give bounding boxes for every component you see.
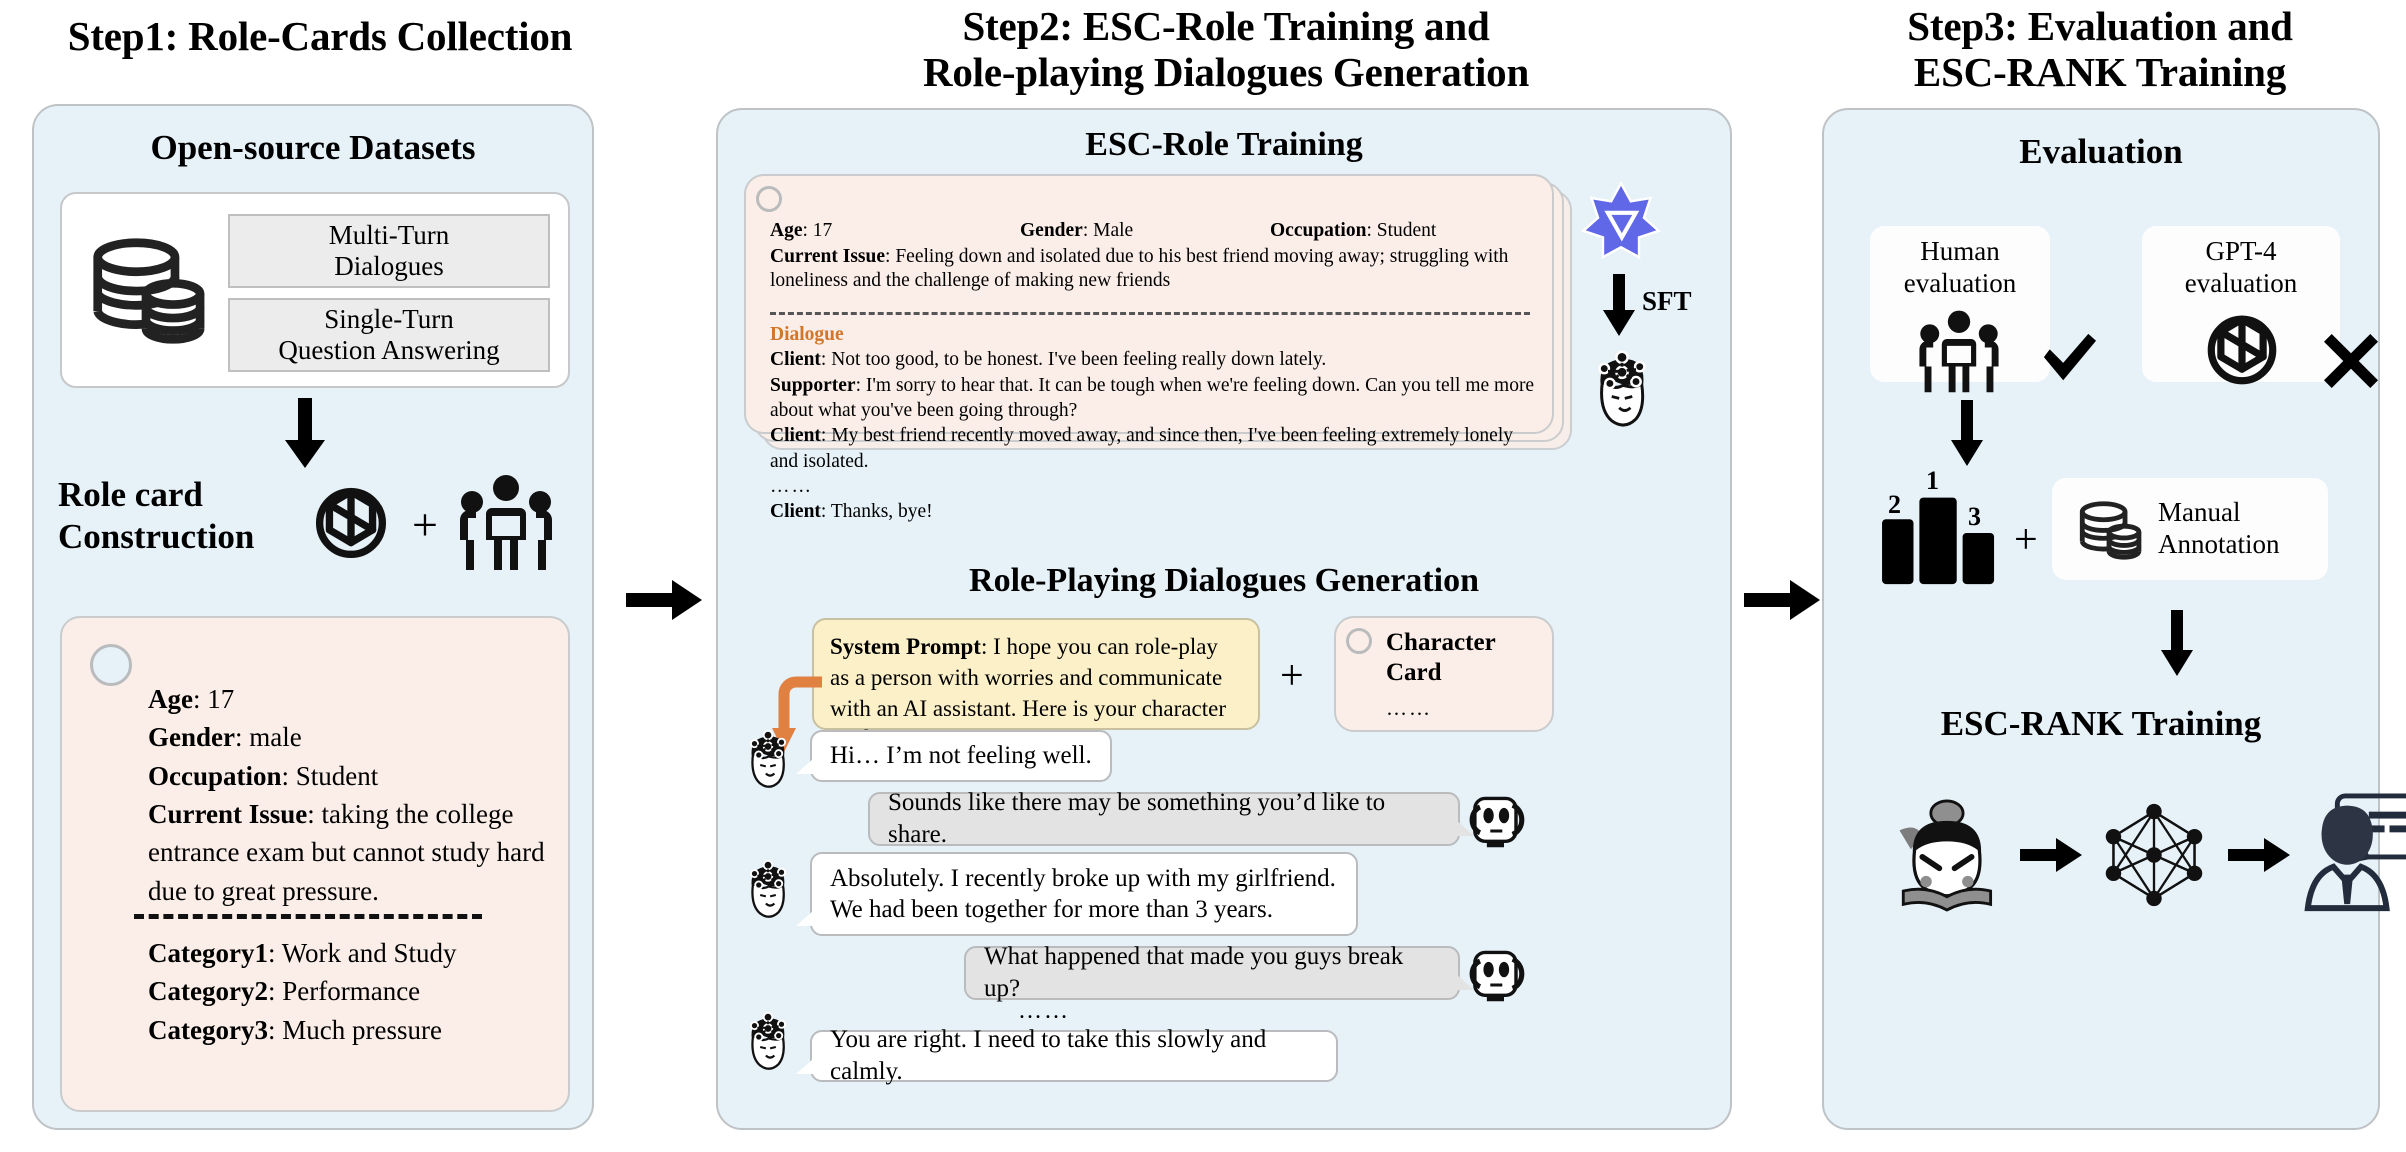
open-source-datasets-title: Open-source Datasets	[34, 128, 592, 168]
arrow-evaluation-to-ranking	[1950, 400, 1984, 466]
role-card-field-current-issue: Current Issue: taking the college entran…	[148, 795, 548, 910]
ranking-label-1: 1	[1926, 466, 1939, 496]
training-ellipsis: ……	[770, 474, 1540, 499]
step2-title: Step2: ESC-Role Training and Role-playin…	[716, 4, 1736, 96]
step3-title-line1: Step3: Evaluation and	[1810, 4, 2390, 50]
robot-avatar-icon-2	[1468, 942, 1528, 1004]
role-card-category3: Category3: Much pressure	[148, 1011, 548, 1049]
training-card-occupation: Occupation: Student	[1270, 220, 1520, 242]
people-group-icon	[1910, 308, 2008, 374]
training-card-current-issue: Current Issue: Feeling down and isolated…	[770, 245, 1530, 294]
robot-avatar-icon	[1468, 788, 1528, 850]
training-turn-3: Client: My best friend recently moved aw…	[770, 423, 1540, 474]
qwen-model-logo-icon	[1580, 180, 1662, 262]
role-card-construction-line1: Role card	[58, 474, 288, 516]
training-card-punch-hole	[756, 186, 782, 212]
reader-avatar-icon	[1890, 798, 2002, 912]
cross-mark-icon	[2324, 334, 2378, 388]
database-stack-icon	[88, 236, 204, 348]
pipeline-arrow-2	[2228, 838, 2290, 872]
dataset-box-multi-turn: Multi-Turn Dialogues	[228, 214, 550, 288]
connector-arrow-step1-step2	[626, 578, 702, 622]
chat-bubble-bot-2: What happened that made you guys break u…	[964, 946, 1460, 1000]
database-stack-icon	[2068, 500, 2150, 566]
role-card: Age: 17 Gender: male Occupation: Student…	[60, 616, 570, 1112]
esc-role-avatar-icon	[1580, 348, 1664, 432]
connector-arrow-step2-step3	[1744, 578, 1820, 622]
character-card: Character Card ……	[1334, 616, 1554, 732]
role-card-construction-line2: Construction	[58, 516, 288, 558]
system-prompt-box: System Prompt: I hope you can role-play …	[812, 618, 1260, 730]
sft-label: SFT	[1642, 286, 1692, 317]
step1-title: Step1: Role-Cards Collection	[20, 14, 620, 60]
role-playing-generation-title: Role-Playing Dialogues Generation	[718, 562, 1730, 600]
human-evaluation-card: Human evaluation	[1870, 226, 2050, 382]
step1-title-line1: Step1: Role-Cards Collection	[20, 14, 620, 60]
training-turn-2: Supporter: I'm sorry to hear that. It ca…	[770, 373, 1540, 424]
single-turn-line1: Single-Turn	[324, 304, 454, 334]
ranking-label-2: 2	[1888, 490, 1901, 520]
role-card-category1: Category1: Work and Study	[148, 934, 548, 972]
training-card-gender: Gender: Male	[1020, 220, 1270, 242]
chat-bubble-client-1: Hi… I’m not feeling well.	[810, 730, 1112, 782]
training-card-divider	[770, 312, 1530, 315]
role-card-divider	[134, 914, 482, 919]
character-card-ellipsis: ……	[1386, 696, 1432, 721]
client-avatar-icon	[736, 728, 800, 792]
role-card-field-gender: Gender: male	[148, 718, 548, 756]
client-avatar-icon-2	[736, 858, 800, 922]
chat-bubble-bot-1: Sounds like there may be something you’d…	[868, 792, 1460, 846]
chat-bubble-client-3: You are right. I need to take this slowl…	[810, 1030, 1338, 1082]
openai-logo-icon	[2194, 302, 2290, 378]
training-turn-last: Client: Thanks, bye!	[770, 499, 1540, 524]
arrow-annotation-to-rank-training	[2160, 610, 2194, 676]
dataset-box-single-turn: Single-Turn Question Answering	[228, 298, 550, 372]
bubble-tail-left	[796, 758, 814, 774]
training-turn-1: Client: Not too good, to be honest. I've…	[770, 347, 1540, 372]
multi-turn-line1: Multi-Turn	[329, 220, 450, 250]
step2-title-line1: Step2: ESC-Role Training and	[716, 4, 1736, 50]
role-card-construction-label: Role card Construction	[58, 474, 288, 558]
neural-network-icon	[2096, 800, 2212, 910]
client-avatar-icon-3	[736, 1010, 800, 1074]
ranking-label-3: 3	[1968, 502, 1981, 532]
step2-panel: ESC-Role Training Age: 17 Gender: Male O…	[716, 108, 1732, 1130]
role-card-field-age: Age: 17	[148, 680, 548, 718]
esc-role-training-title: ESC-Role Training	[718, 126, 1730, 164]
pipeline-arrow-1	[2020, 838, 2082, 872]
people-group-icon	[450, 472, 562, 572]
dialogue-heading: Dialogue	[770, 322, 1540, 347]
manual-annotation-line1: Manual	[2158, 496, 2280, 528]
multi-turn-line2: Dialogues	[334, 251, 443, 281]
gpt4-eval-line2: evaluation	[2142, 268, 2340, 300]
character-card-punch-hole	[1346, 628, 1372, 654]
sft-arrow	[1602, 274, 1636, 336]
role-card-punch-hole	[90, 644, 132, 686]
construction-plus-sign: +	[412, 498, 438, 551]
step3-title: Step3: Evaluation and ESC-RANK Training	[1810, 4, 2390, 96]
gpt4-evaluation-card: GPT-4 evaluation	[2142, 226, 2340, 382]
single-turn-line2: Question Answering	[278, 335, 499, 365]
manual-annotation-line2: Annotation	[2158, 528, 2280, 560]
ranking-bar-chart-icon: 2 1 3	[1880, 476, 2002, 588]
character-card-line2: Card	[1386, 658, 1496, 688]
esc-rank-training-title: ESC-RANK Training	[1824, 704, 2378, 744]
chat-ellipsis: ……	[1018, 998, 1070, 1025]
human-eval-line2: evaluation	[1870, 268, 2050, 300]
manual-annotation-card: Manual Annotation	[2052, 478, 2328, 580]
diagram-canvas: Step1: Role-Cards Collection Step2: ESC-…	[0, 0, 2406, 1152]
check-mark-icon	[2040, 332, 2098, 388]
bubble-tail-left-2	[796, 910, 814, 926]
role-card-field-occupation: Occupation: Student	[148, 757, 548, 795]
system-prompt-label: System Prompt	[830, 634, 981, 659]
step2-title-line2: Role-playing Dialogues Generation	[716, 50, 1736, 96]
character-card-line1: Character	[1386, 628, 1496, 658]
role-card-category2: Category2: Performance	[148, 972, 548, 1010]
step1-panel: Open-source Datasets	[32, 104, 594, 1130]
step3-panel: Evaluation Human evaluation	[1822, 108, 2380, 1130]
training-card-header-row: Age: 17 Gender: Male Occupation: Student	[770, 220, 1530, 242]
human-eval-line1: Human	[1870, 236, 2050, 268]
esc-role-training-card: Age: 17 Gender: Male Occupation: Student…	[744, 174, 1554, 434]
arrow-datasets-to-construction	[284, 398, 326, 468]
evaluation-title: Evaluation	[1824, 132, 2378, 172]
chat-bubble-client-2: Absolutely. I recently broke up with my …	[810, 852, 1358, 936]
gpt4-eval-line1: GPT-4	[2142, 236, 2340, 268]
openai-logo-icon	[302, 474, 400, 572]
generation-plus-sign: +	[1280, 652, 1304, 700]
ranking-plus-sign: +	[2014, 516, 2038, 564]
step3-title-line2: ESC-RANK Training	[1810, 50, 2390, 96]
datasets-card: Multi-Turn Dialogues Single-Turn Questio…	[60, 192, 570, 388]
presenter-avatar-icon	[2296, 790, 2406, 916]
training-card-age: Age: 17	[770, 220, 1020, 242]
bubble-tail-left-3	[796, 1058, 814, 1074]
